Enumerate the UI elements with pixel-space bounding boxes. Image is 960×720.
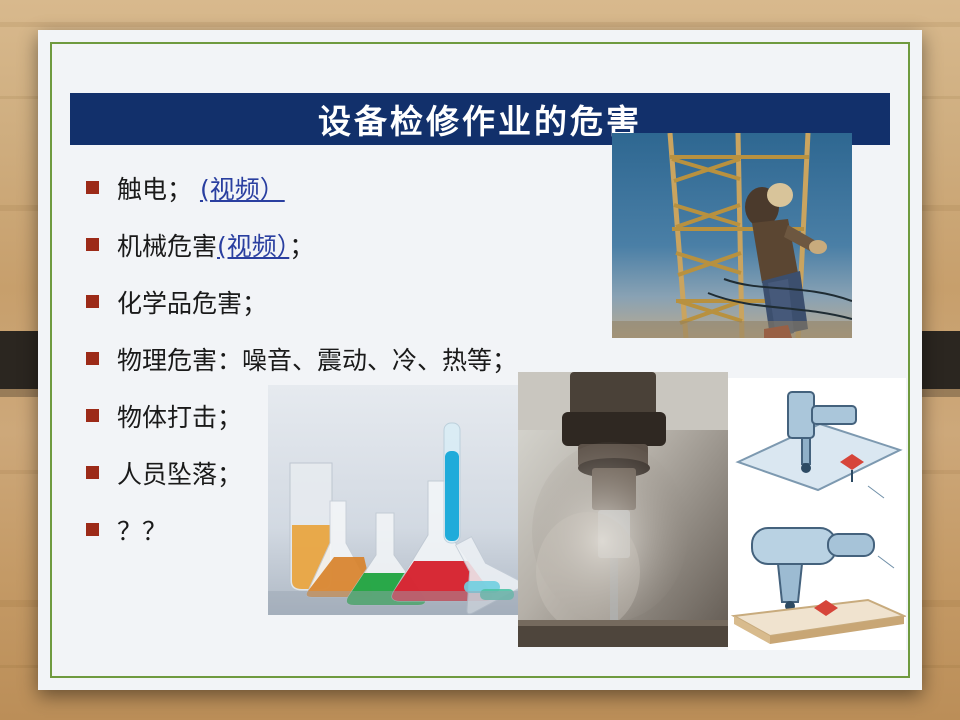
chemical-flasks-photo	[268, 385, 518, 615]
bullet-label: ？？	[117, 512, 167, 548]
bullet-label: 人员坠落；	[117, 455, 242, 491]
drilling-machine-photo	[518, 372, 728, 647]
square-bullet-icon	[86, 466, 99, 479]
list-item: 机械危害(视频）；	[86, 227, 646, 284]
square-bullet-icon	[86, 295, 99, 308]
square-bullet-icon	[86, 352, 99, 365]
bullet-label: 化学品危害；	[117, 284, 267, 320]
video-link[interactable]: (视频）	[200, 175, 285, 204]
worker-on-tower-photo	[612, 133, 852, 338]
bullet-label: 物理危害：噪音、震动、冷、热等；	[117, 341, 517, 377]
video-link[interactable]: (视频）	[217, 232, 289, 261]
list-item: 化学品危害；	[86, 284, 646, 341]
square-bullet-icon	[86, 409, 99, 422]
page-title: 设备检修作业的危害	[318, 95, 642, 143]
bullet-label: 机械危害	[117, 232, 217, 261]
bullet-label: 触电；	[117, 175, 192, 204]
square-bullet-icon	[86, 238, 99, 251]
list-item: 触电； (视频）	[86, 170, 646, 227]
square-bullet-icon	[86, 523, 99, 536]
bullet-suffix: ；	[289, 232, 314, 261]
wood-grain-streak	[0, 22, 960, 27]
square-bullet-icon	[86, 181, 99, 194]
slide: 设备检修作业的危害 触电； (视频） 机械危害(视频）；	[0, 0, 960, 720]
bullet-label: 物体打击；	[117, 398, 242, 434]
nail-gun-diagram	[728, 378, 906, 650]
